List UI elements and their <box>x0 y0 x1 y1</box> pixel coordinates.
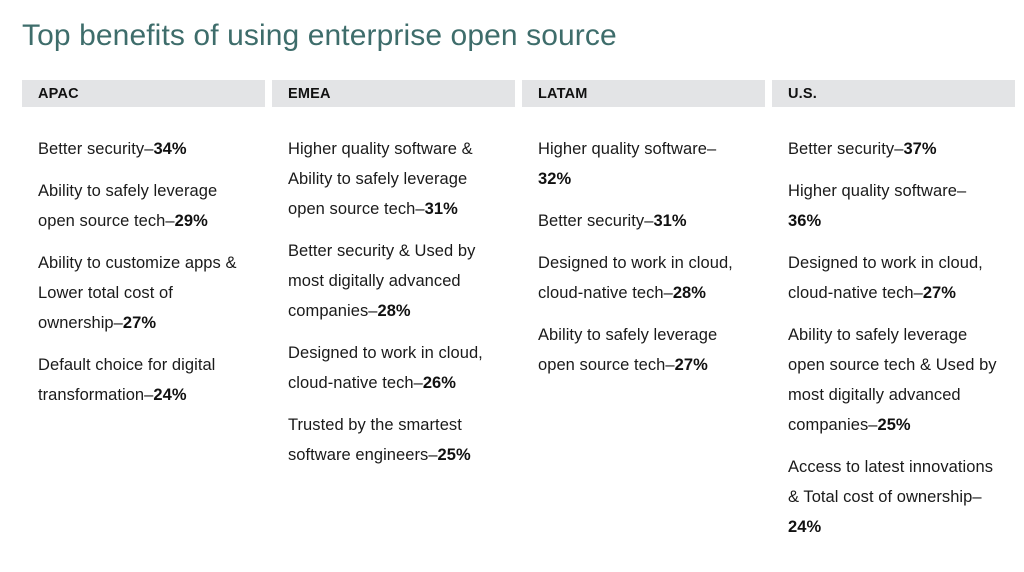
benefit-value: 28% <box>377 302 410 320</box>
benefit-separator: – <box>165 212 174 230</box>
benefit-separator: – <box>414 374 423 392</box>
benefit-separator: – <box>415 200 424 218</box>
benefit-value: 27% <box>675 356 708 374</box>
benefit-value: 31% <box>653 212 686 230</box>
benefit-item: Access to latest innovations & Total cos… <box>788 452 999 542</box>
benefit-separator: – <box>428 446 437 464</box>
benefit-list-apac: Better security–34% Ability to safely le… <box>22 134 265 410</box>
benefit-list-emea: Higher quality software & Ability to saf… <box>272 134 515 470</box>
benefit-value: 24% <box>788 518 821 536</box>
benefit-separator: – <box>957 182 966 200</box>
benefit-item: Designed to work in cloud, cloud-native … <box>538 248 749 308</box>
region-columns: APAC Better security–34% Ability to safe… <box>22 80 1012 542</box>
benefit-value: 25% <box>877 416 910 434</box>
benefit-list-latam: Higher quality software–32% Better secur… <box>522 134 765 380</box>
benefit-item: Better security–31% <box>538 206 749 236</box>
region-column-latam: LATAM Higher quality software–32% Better… <box>522 80 765 380</box>
benefit-value: 24% <box>153 386 186 404</box>
benefit-value: 29% <box>175 212 208 230</box>
benefit-list-us: Better security–37% Higher quality softw… <box>772 134 1015 542</box>
column-header-label: U.S. <box>788 86 817 102</box>
benefit-value: 27% <box>123 314 156 332</box>
benefit-item: Designed to work in cloud, cloud-native … <box>288 338 499 398</box>
benefit-separator: – <box>664 284 673 302</box>
column-header-us: U.S. <box>772 80 1015 107</box>
benefit-item: Higher quality software & Ability to saf… <box>288 134 499 224</box>
benefit-separator: – <box>914 284 923 302</box>
benefit-item: Ability to safely leverage open source t… <box>38 176 249 236</box>
benefit-item: Ability to safely leverage open source t… <box>538 320 749 380</box>
benefit-label: Better security <box>538 212 644 230</box>
benefit-label: Default choice for digital transformatio… <box>38 356 215 404</box>
benefit-item: Default choice for digital transformatio… <box>38 350 249 410</box>
benefit-value: 26% <box>423 374 456 392</box>
column-header-apac: APAC <box>22 80 265 107</box>
benefit-label: Higher quality software <box>538 140 707 158</box>
benefit-value: 36% <box>788 212 821 230</box>
region-column-emea: EMEA Higher quality software & Ability t… <box>272 80 515 470</box>
benefit-item: Higher quality software–36% <box>788 176 999 236</box>
benefit-item: Better security–34% <box>38 134 249 164</box>
benefit-label: Higher quality software <box>788 182 957 200</box>
benefit-separator: – <box>665 356 674 374</box>
benefit-item: Trusted by the smartest software enginee… <box>288 410 499 470</box>
region-column-us: U.S. Better security–37% Higher quality … <box>772 80 1015 542</box>
benefit-separator: – <box>707 140 716 158</box>
column-header-label: EMEA <box>288 86 331 102</box>
benefit-item: Ability to customize apps & Lower total … <box>38 248 249 338</box>
column-header-label: APAC <box>38 86 79 102</box>
benefit-value: 28% <box>673 284 706 302</box>
benefit-item: Higher quality software–32% <box>538 134 749 194</box>
benefits-infographic: Top benefits of using enterprise open so… <box>0 0 1024 572</box>
benefit-value: 31% <box>425 200 458 218</box>
benefit-separator: – <box>972 488 981 506</box>
column-header-emea: EMEA <box>272 80 515 107</box>
benefit-item: Designed to work in cloud, cloud-native … <box>788 248 999 308</box>
column-header-label: LATAM <box>538 86 588 102</box>
benefit-item: Better security–37% <box>788 134 999 164</box>
region-column-apac: APAC Better security–34% Ability to safe… <box>22 80 265 410</box>
benefit-item: Better security & Used by most digitally… <box>288 236 499 326</box>
column-header-latam: LATAM <box>522 80 765 107</box>
benefit-label: Better security <box>38 140 144 158</box>
benefit-value: 27% <box>923 284 956 302</box>
benefit-value: 25% <box>438 446 471 464</box>
page-title: Top benefits of using enterprise open so… <box>22 18 617 54</box>
benefit-value: 34% <box>153 140 186 158</box>
benefit-item: Ability to safely leverage open source t… <box>788 320 999 440</box>
benefit-label: Access to latest innovations & Total cos… <box>788 458 993 506</box>
benefit-label: Better security <box>788 140 894 158</box>
benefit-separator: – <box>114 314 123 332</box>
benefit-value: 32% <box>538 170 571 188</box>
benefit-value: 37% <box>903 140 936 158</box>
